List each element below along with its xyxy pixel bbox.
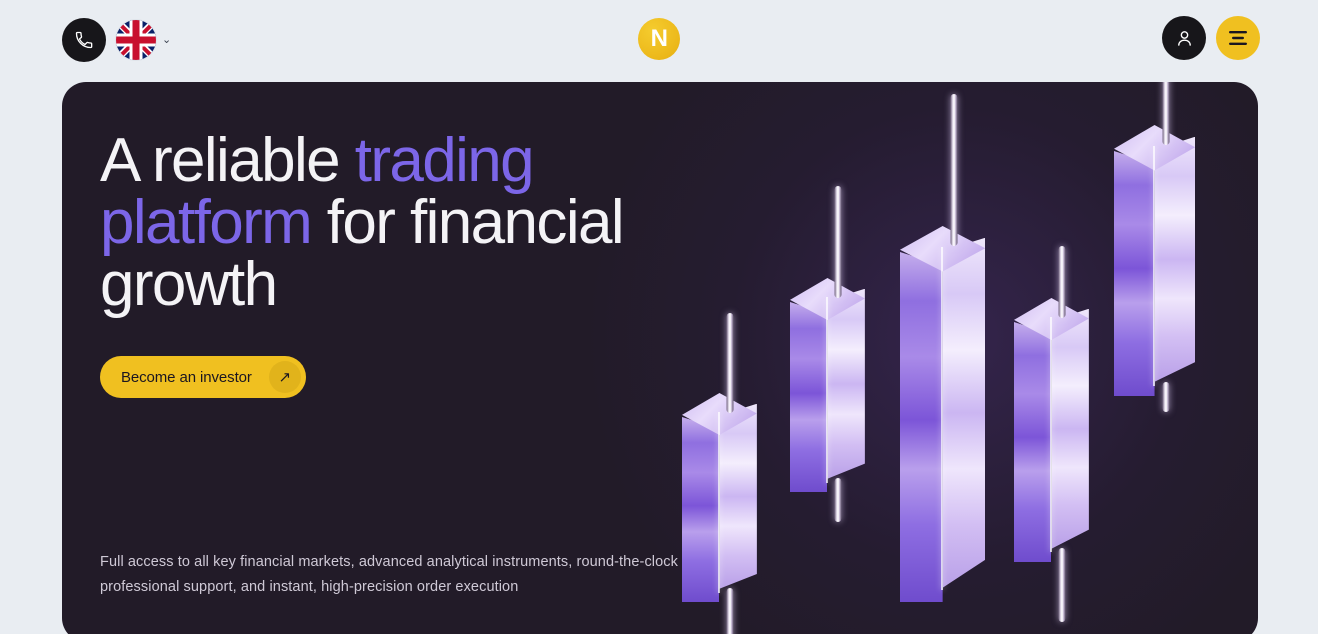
candle-body <box>790 278 886 492</box>
candle-5 <box>1114 82 1218 412</box>
candle-face-left <box>1114 151 1155 396</box>
candle-edge-highlight <box>826 297 828 483</box>
candle-wick-bottom <box>727 588 734 634</box>
candle-body <box>900 226 1008 602</box>
candle-2 <box>790 186 886 522</box>
candle-wick-bottom <box>1163 382 1170 412</box>
candle-edge-highlight <box>1050 317 1052 552</box>
page-title: A reliable trading platform for financia… <box>100 130 740 316</box>
3d-candlestick-illustration <box>662 82 1258 634</box>
candle-edge-highlight <box>1153 146 1155 386</box>
page-root: ⌄ N <box>0 0 1318 634</box>
candle-wick-top <box>951 94 958 246</box>
candle-face-right <box>1051 309 1088 549</box>
candle-wick-bottom <box>1059 548 1066 622</box>
candle-wick-top <box>1163 82 1170 145</box>
arrow-up-right-icon: ↗ <box>269 361 301 393</box>
headline-part1: A reliable <box>100 126 355 195</box>
candle-wick-bottom <box>835 478 842 522</box>
candle-3 <box>900 94 1008 602</box>
cta-label: Become an investor <box>121 369 252 386</box>
candle-face-left <box>790 302 827 492</box>
candle-face-right <box>943 238 986 588</box>
top-navigation-bar: ⌄ N <box>0 0 1318 80</box>
brand-logo-letter: N <box>651 25 668 53</box>
candle-face-left <box>900 252 943 602</box>
hero-card: A reliable trading platform for financia… <box>62 82 1258 634</box>
candle-body <box>1014 298 1110 562</box>
candle-body <box>1114 125 1218 396</box>
candle-4 <box>1014 246 1110 622</box>
menu-button[interactable] <box>1216 16 1260 60</box>
hamburger-menu-icon <box>1227 29 1249 47</box>
hero-subtext: Full access to all key financial markets… <box>100 550 700 601</box>
candle-face-right <box>1155 137 1196 382</box>
candle-edge-highlight <box>718 412 720 593</box>
user-icon <box>1174 28 1195 49</box>
candle-face-right <box>827 289 864 479</box>
topbar-right-group <box>1162 16 1260 60</box>
become-an-investor-button[interactable]: Become an investor ↗ <box>100 356 306 398</box>
brand-logo[interactable]: N <box>638 18 680 60</box>
account-button[interactable] <box>1162 16 1206 60</box>
candle-edge-highlight <box>941 247 943 590</box>
hero-content: A reliable trading platform for financia… <box>100 130 740 398</box>
candle-face-left <box>1014 322 1051 562</box>
candle-wick-top <box>1059 246 1066 318</box>
candle-wick-top <box>835 186 842 298</box>
topbar-center-group: N <box>0 18 1318 60</box>
